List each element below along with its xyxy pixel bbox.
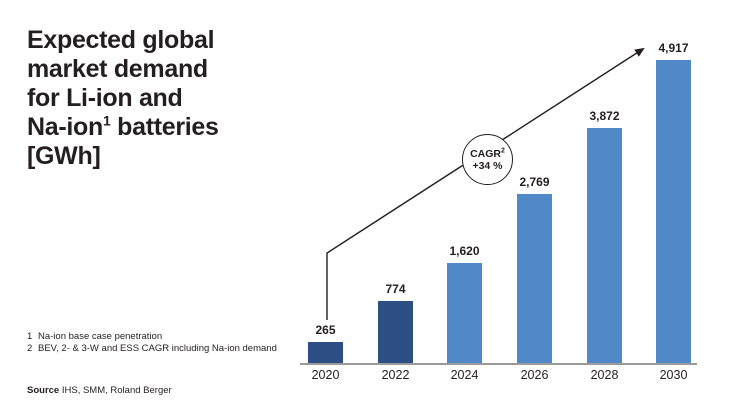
title-line-1: Expected global — [27, 26, 289, 55]
cagr-annotation-badge: CAGR2 +34 % — [462, 134, 513, 185]
cagr-value: +34 % — [472, 160, 502, 172]
footnote-text: Na-ion base case penetration — [38, 331, 277, 343]
footnotes: 1 Na-ion base case penetration 2 BEV, 2-… — [27, 331, 277, 356]
footnote-item: 1 Na-ion base case penetration — [27, 331, 277, 343]
source-line: Source IHS, SMM, Roland Berger — [27, 385, 172, 396]
bar-2028[interactable] — [587, 128, 622, 363]
x-tick-2024: 2024 — [432, 368, 497, 382]
x-tick-2028: 2028 — [572, 368, 637, 382]
x-tick-2020: 2020 — [293, 368, 358, 382]
x-tick-2026: 2026 — [502, 368, 567, 382]
bar-2030[interactable] — [656, 60, 691, 363]
page-title: Expected global market demand for Li-ion… — [27, 26, 289, 171]
source-label: Source — [27, 385, 59, 396]
bar-value-2026: 2,769 — [502, 175, 567, 189]
title-line-2: market demand — [27, 55, 289, 84]
cagr-label: CAGR2 — [470, 148, 505, 160]
footnote-number: 1 — [27, 331, 38, 343]
bar-value-2022: 774 — [363, 282, 428, 296]
footnote-text: BEV, 2- & 3-W and ESS CAGR including Na-… — [38, 343, 277, 355]
plot-area: 265 774 1,620 2,769 3,872 4,917 2020 202… — [300, 0, 746, 419]
title-line-5: [GWh] — [27, 142, 289, 171]
title-line-4-main: Na-ion — [27, 113, 103, 141]
bar-2020[interactable] — [308, 342, 343, 363]
title-line-3: for Li-ion and — [27, 84, 289, 113]
footnote-item: 2 BEV, 2- & 3-W and ESS CAGR including N… — [27, 343, 277, 355]
bar-value-2028: 3,872 — [572, 109, 637, 123]
cagr-footnote-marker: 2 — [501, 147, 505, 154]
x-tick-2022: 2022 — [363, 368, 428, 382]
source-text: IHS, SMM, Roland Berger — [59, 385, 171, 396]
bar-2022[interactable] — [378, 301, 413, 363]
title-line-4-rest: batteries — [110, 113, 218, 141]
title-line-4: Na-ion1 batteries — [27, 113, 289, 142]
x-tick-2030: 2030 — [641, 368, 706, 382]
x-axis-line — [300, 363, 697, 365]
bar-chart: 265 774 1,620 2,769 3,872 4,917 2020 202… — [300, 0, 746, 419]
slide-canvas: Expected global market demand for Li-ion… — [0, 0, 746, 419]
bar-2024[interactable] — [447, 263, 482, 363]
footnote-number: 2 — [27, 343, 38, 355]
bar-2026[interactable] — [517, 194, 552, 363]
bar-value-2030: 4,917 — [641, 41, 706, 55]
bar-value-2024: 1,620 — [432, 244, 497, 258]
bar-value-2020: 265 — [293, 323, 358, 337]
cagr-label-text: CAGR — [470, 148, 501, 160]
